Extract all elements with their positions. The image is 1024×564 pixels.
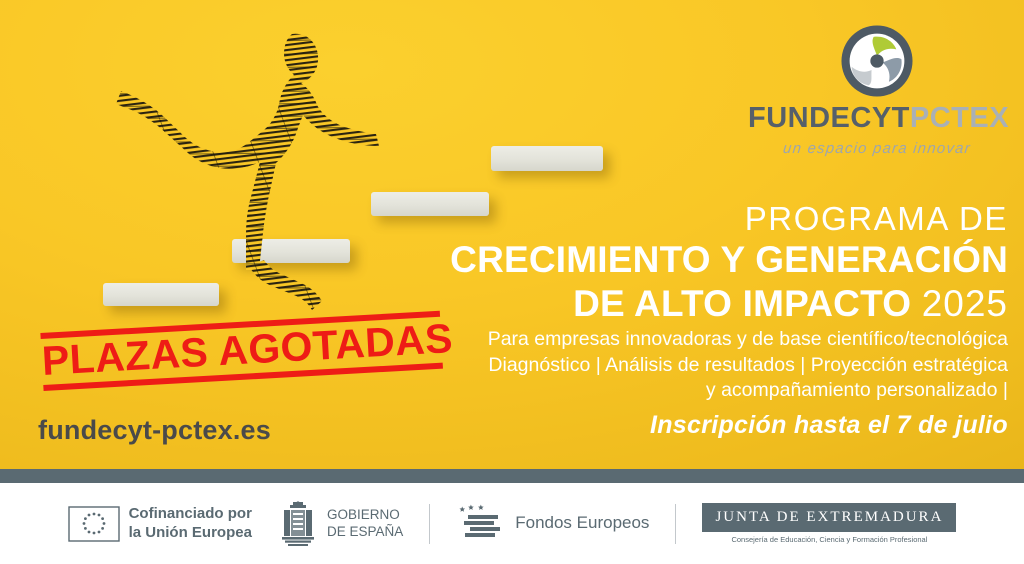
fondos-label: Fondos Europeos [515, 513, 649, 534]
headline-line-2: CRECIMIENTO Y GENERACIÓN [338, 238, 1008, 282]
program-headline: PROGRAMA DE CRECIMIENTO Y GENERACIÓN DE … [338, 200, 1008, 326]
eu-label-line-2: la Unión Europea [129, 524, 252, 542]
spain-coat-of-arms-icon [278, 501, 318, 547]
junta-title: JUNTA DE EXTREMADURA [715, 509, 943, 526]
program-description: Para empresas innovadoras y de base cien… [430, 327, 1008, 404]
footer-separator [429, 504, 430, 544]
headline-line-3-text: DE ALTO IMPACTO [573, 283, 911, 324]
eu-label-line-1: Cofinanciado por [129, 505, 252, 523]
eu-cofinanced-logo: Cofinanciado por la Unión Europea [68, 505, 252, 542]
eu-label: Cofinanciado por la Unión Europea [129, 505, 252, 542]
fondos-europeos-logo: Fondos Europeos [456, 504, 649, 544]
step-block-4 [491, 146, 603, 171]
gobierno-espana-logo: GOBIERNO DE ESPAÑA [278, 501, 403, 547]
logo-word-pctex: PCTEX [910, 102, 1009, 134]
banner-stage: FUNDECYTPCTEX un espacio para innovar PR… [0, 0, 1024, 469]
registration-deadline: Inscripción hasta el 7 de julio [430, 411, 1008, 440]
logo-word-fundecyt: FUNDECYT [748, 102, 910, 134]
institutional-footer: Cofinanciado por la Unión Europea [0, 483, 1024, 564]
description-line-1: Para empresas innovadoras y de base cien… [430, 327, 1008, 353]
logo-tagline: un espacio para innovar [747, 140, 1007, 157]
junta-subtitle: Consejería de Educación, Ciencia y Forma… [702, 535, 956, 544]
headline-year: 2025 [922, 283, 1008, 324]
fondos-europeos-icon [456, 504, 506, 544]
website-url[interactable]: fundecyt-pctex.es [38, 415, 271, 446]
fundecyt-pctex-logo[interactable]: FUNDECYTPCTEX un espacio para innovar [748, 24, 1006, 164]
description-line-3: y acompañamiento personalizado | [430, 378, 1008, 404]
logo-wordmark: FUNDECYTPCTEX [748, 104, 1006, 133]
description-line-2: Diagnóstico | Análisis de resultados | P… [430, 353, 1008, 379]
junta-extremadura-logo: JUNTA DE EXTREMADURA Consejería de Educa… [702, 503, 956, 544]
footer-divider [0, 469, 1024, 483]
headline-line-1: PROGRAMA DE [338, 200, 1008, 238]
junta-title-box: JUNTA DE EXTREMADURA [702, 503, 956, 532]
gobierno-label-line-2: DE ESPAÑA [327, 524, 403, 540]
fundecyt-emblem-icon [840, 24, 914, 98]
eu-flag-icon [68, 506, 120, 542]
gobierno-label-line-1: GOBIERNO [327, 507, 403, 523]
gobierno-label: GOBIERNO DE ESPAÑA [327, 507, 403, 540]
footer-separator-2 [675, 504, 676, 544]
promotional-banner: FUNDECYTPCTEX un espacio para innovar PR… [0, 0, 1024, 564]
